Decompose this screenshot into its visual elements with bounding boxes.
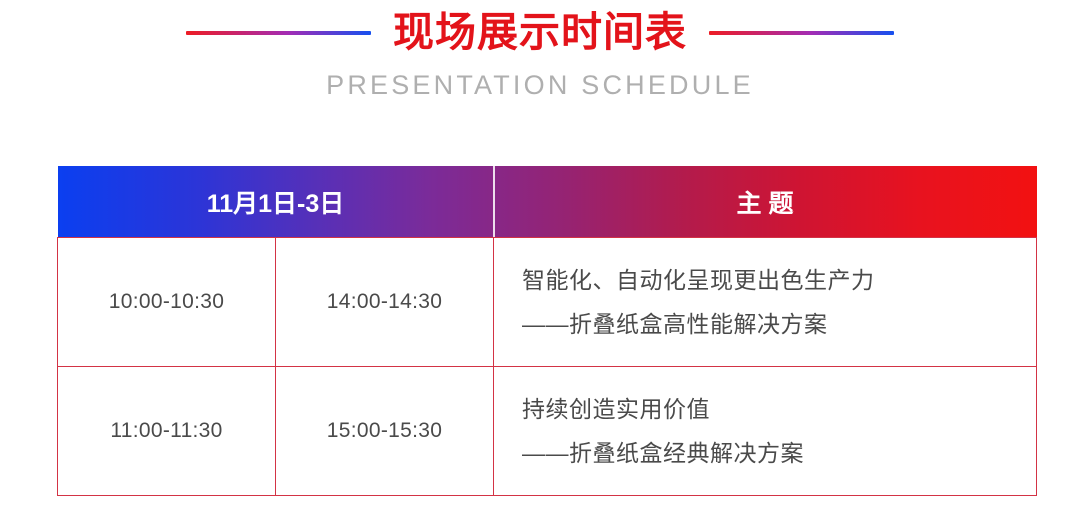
topic-line-primary: 持续创造实用价值 xyxy=(522,388,1036,430)
topic-line-secondary: ——折叠纸盒高性能解决方案 xyxy=(522,303,1036,345)
gradient-rule-left-icon xyxy=(186,31,371,35)
cell-topic: 持续创造实用价值 ——折叠纸盒经典解决方案 xyxy=(494,367,1037,496)
schedule-table-head: 11月1日-3日 主 题 xyxy=(58,166,1037,238)
title-row: 现场展示时间表 xyxy=(0,4,1080,60)
cell-time-morning: 11:00-11:30 xyxy=(58,367,276,496)
column-header-date-range-label: 11月1日-3日 xyxy=(207,184,345,220)
cell-topic: 智能化、自动化呈现更出色生产力 ——折叠纸盒高性能解决方案 xyxy=(494,238,1037,367)
gradient-rule-right-icon xyxy=(709,31,894,35)
schedule-table: 11月1日-3日 主 题 10:00-10:30 14:00-14:30 智能化… xyxy=(57,166,1037,496)
cell-time-morning: 10:00-10:30 xyxy=(58,238,276,367)
schedule-header-row: 11月1日-3日 主 题 xyxy=(58,166,1037,238)
cell-time-afternoon: 15:00-15:30 xyxy=(276,367,494,496)
column-header-topic-label: 主 题 xyxy=(737,184,794,220)
schedule-table-body: 10:00-10:30 14:00-14:30 智能化、自动化呈现更出色生产力 … xyxy=(58,238,1037,496)
page-title: 现场展示时间表 xyxy=(393,7,687,57)
column-header-topic: 主 题 xyxy=(494,166,1037,238)
topic-line-secondary: ——折叠纸盒经典解决方案 xyxy=(522,432,1036,474)
page-header: 现场展示时间表 PRESENTATION SCHEDULE xyxy=(0,0,1080,103)
column-header-date-range: 11月1日-3日 xyxy=(58,166,494,238)
table-row: 11:00-11:30 15:00-15:30 持续创造实用价值 ——折叠纸盒经… xyxy=(58,367,1037,496)
topic-line-primary: 智能化、自动化呈现更出色生产力 xyxy=(522,259,1036,301)
page-subtitle: PRESENTATION SCHEDULE xyxy=(0,67,1080,103)
schedule-table-wrapper: 11月1日-3日 主 题 10:00-10:30 14:00-14:30 智能化… xyxy=(57,166,1036,496)
cell-time-afternoon: 14:00-14:30 xyxy=(276,238,494,367)
table-row: 10:00-10:30 14:00-14:30 智能化、自动化呈现更出色生产力 … xyxy=(58,238,1037,367)
